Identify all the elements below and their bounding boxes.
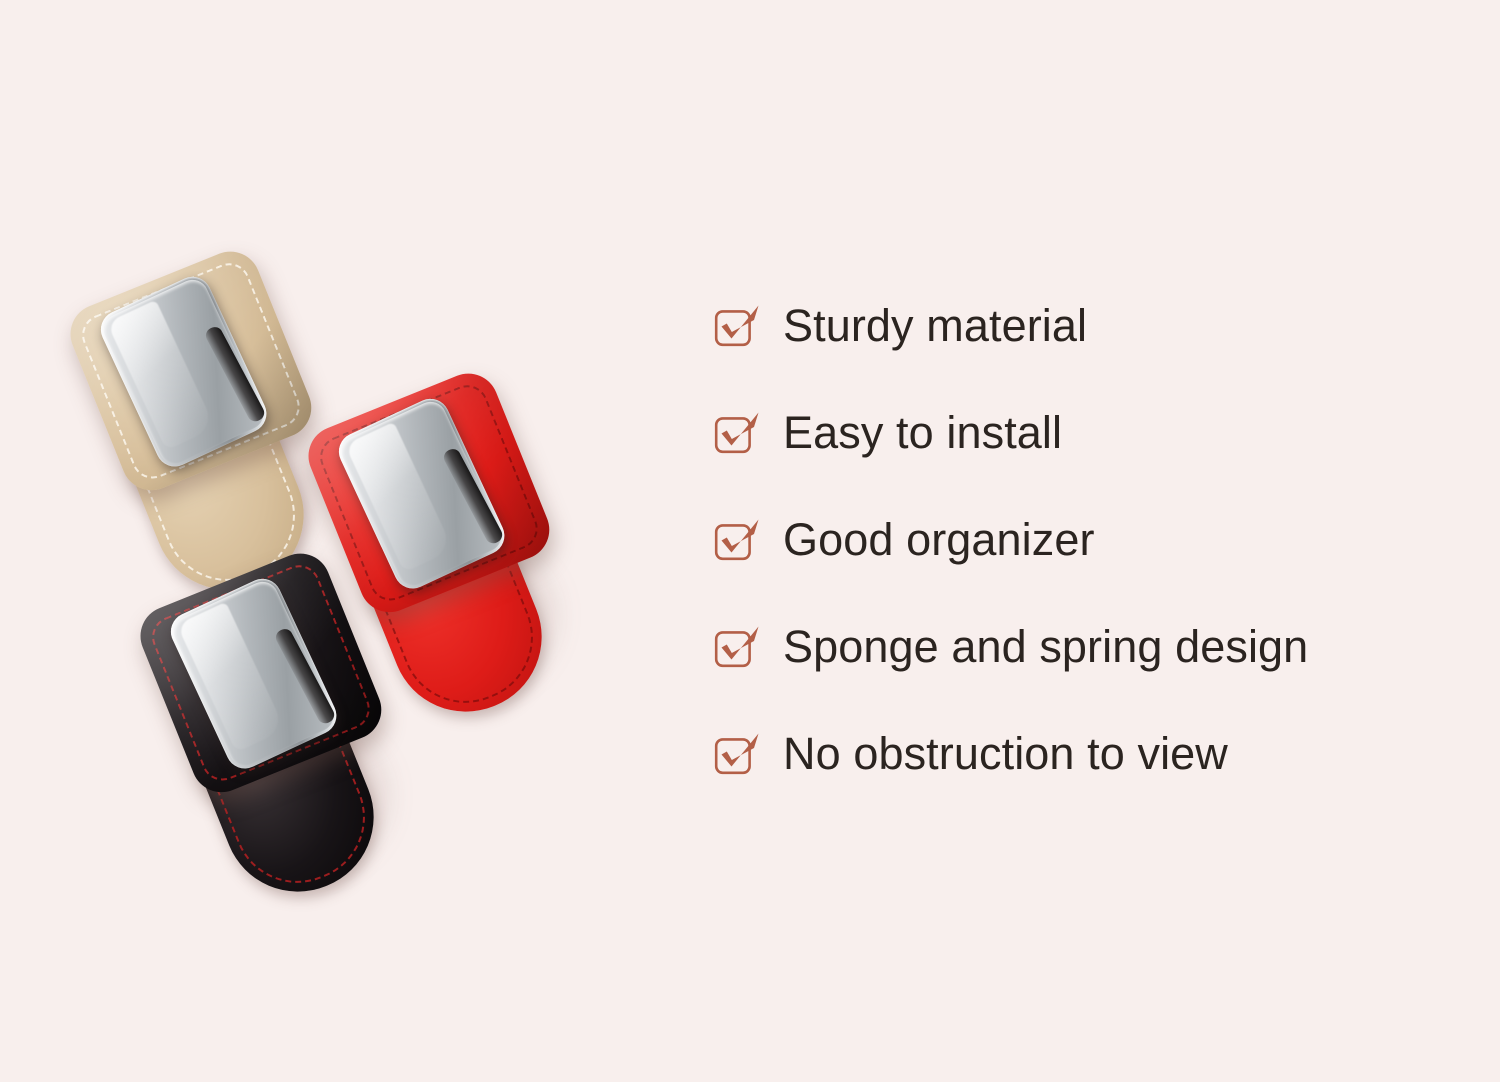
feature-item-sturdy-material: Sturdy material — [714, 297, 1414, 353]
checkbox-checked-icon — [714, 731, 764, 775]
product-image — [60, 250, 680, 910]
feature-item-no-obstruction-to-view: No obstruction to view — [714, 725, 1414, 781]
feature-label: Good organizer — [783, 517, 1095, 562]
page-root: Sturdy material Easy to install Good org… — [0, 0, 1500, 1082]
feature-item-sponge-and-spring-design: Sponge and spring design — [714, 618, 1414, 674]
feature-label: No obstruction to view — [783, 731, 1228, 776]
checkbox-checked-icon — [714, 303, 764, 347]
feature-label: Easy to install — [783, 410, 1062, 455]
feature-item-good-organizer: Good organizer — [714, 511, 1414, 567]
feature-item-easy-to-install: Easy to install — [714, 404, 1414, 460]
feature-label: Sponge and spring design — [783, 624, 1308, 669]
feature-label: Sturdy material — [783, 303, 1087, 348]
feature-list: Sturdy material Easy to install Good org… — [714, 297, 1414, 781]
checkbox-checked-icon — [714, 410, 764, 454]
checkbox-checked-icon — [714, 624, 764, 668]
checkbox-checked-icon — [714, 517, 764, 561]
